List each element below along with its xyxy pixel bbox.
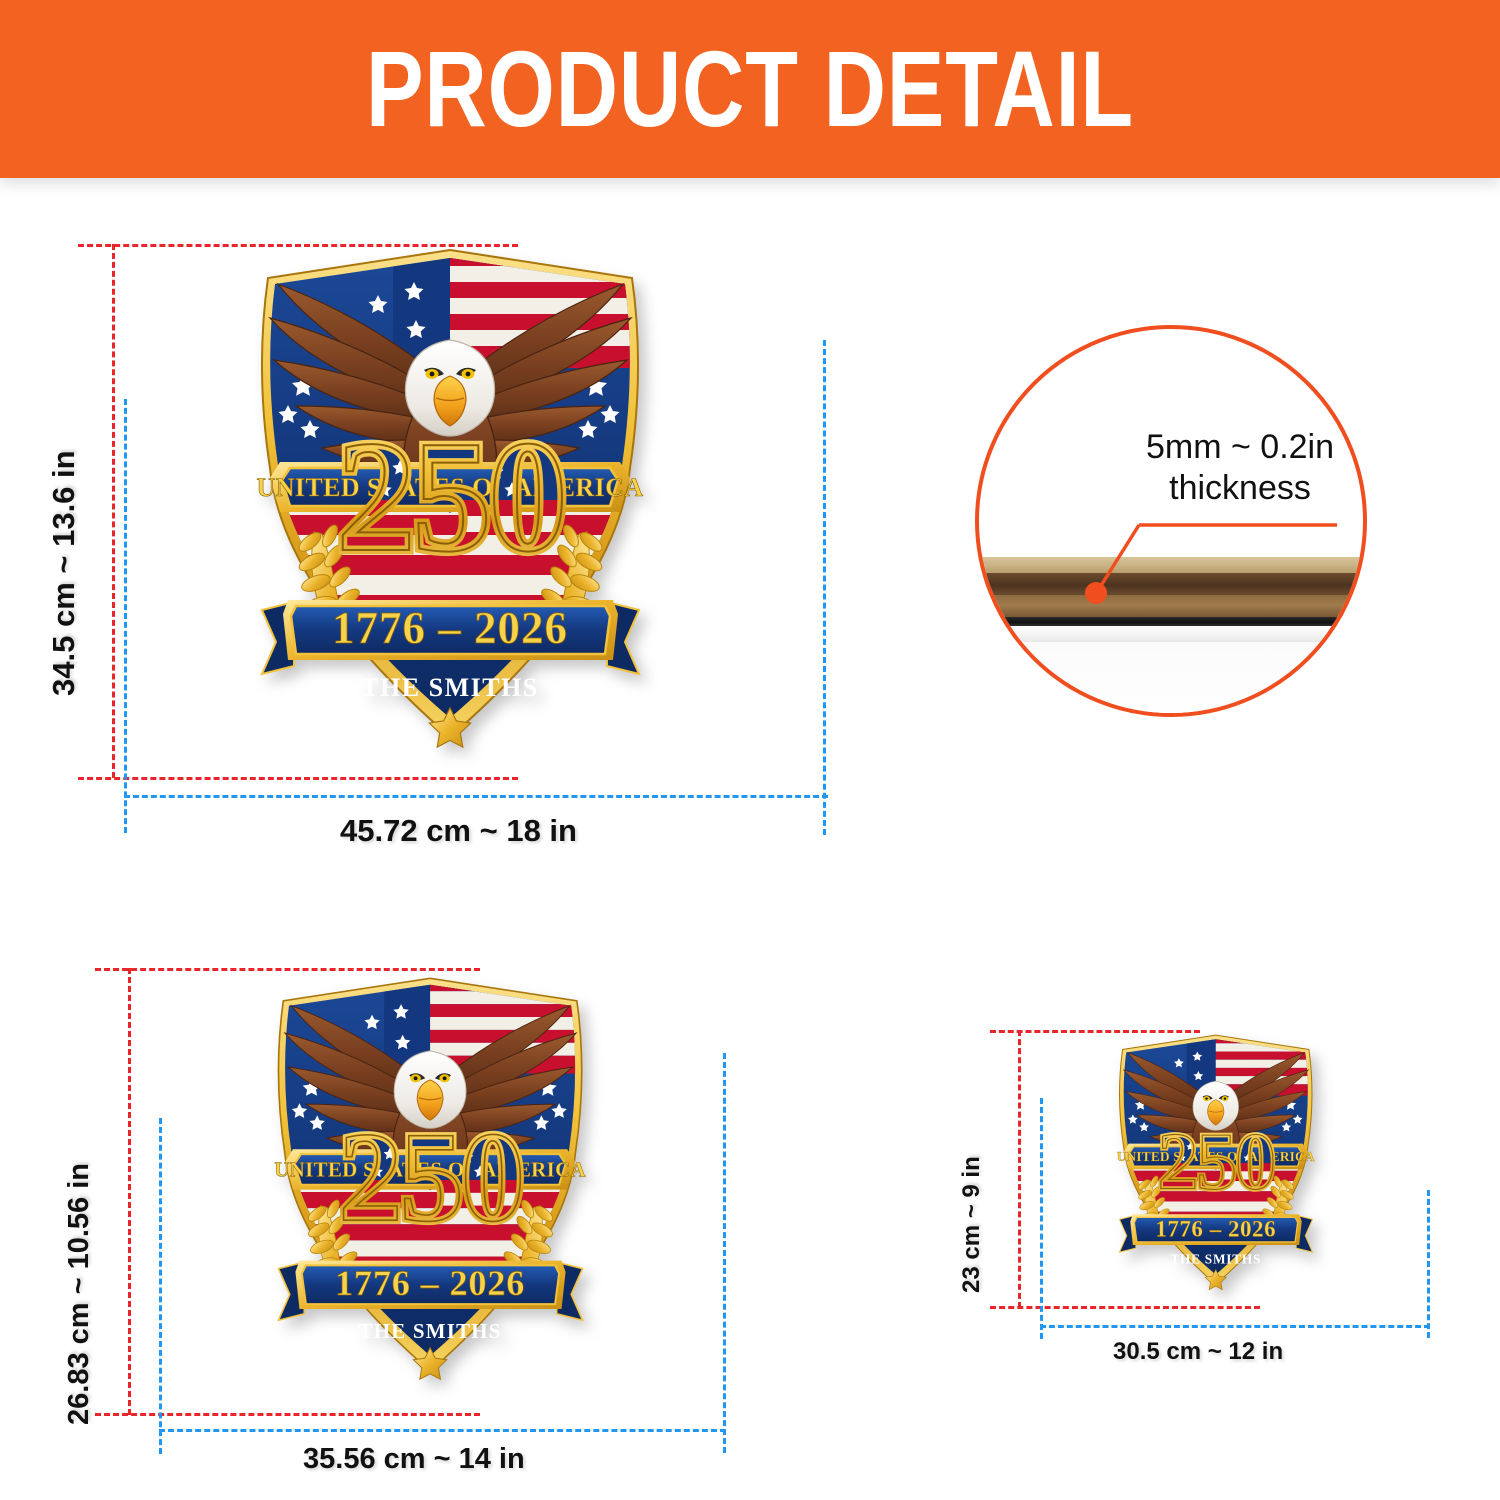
- small-red-bottom-line: [990, 1306, 1260, 1309]
- numeral-250: 250 250: [336, 407, 568, 616]
- medium-red-left-line: [128, 968, 131, 1415]
- family-name-text: THE SMITHS: [1170, 1251, 1261, 1266]
- large-blue-bottom-line: [124, 795, 828, 798]
- emblem-medium-svg: 250: [243, 978, 618, 1402]
- emblem-small: 250: [1097, 1035, 1335, 1304]
- medium-height-label: 26.83 cm ~ 10.56 in: [63, 1163, 96, 1425]
- small-blue-left-line: [1040, 1098, 1043, 1339]
- svg-text:250: 250: [338, 1105, 522, 1248]
- header-banner: PRODUCT DETAIL: [0, 0, 1500, 178]
- svg-text:250: 250: [1157, 1116, 1274, 1207]
- numeral-250-edge: 250: [336, 407, 564, 585]
- large-height-label: 34.5 cm ~ 13.6 in: [46, 450, 82, 696]
- numeral-250: 250 250: [1157, 1116, 1276, 1223]
- medium-blue-right-line: [723, 1053, 726, 1453]
- small-blue-bottom-line: [1040, 1325, 1430, 1328]
- large-red-left-line: [112, 244, 115, 778]
- small-red-left-line: [1018, 1030, 1021, 1308]
- small-width-label: 30.5 cm ~ 12 in: [1113, 1338, 1283, 1366]
- medium-blue-left-line: [159, 1118, 162, 1454]
- small-height-label: 23 cm ~ 9 in: [958, 1156, 986, 1293]
- medium-blue-bottom-line: [159, 1429, 726, 1432]
- emblem-large: 250: [218, 250, 683, 775]
- years-ribbon-text: 1776 – 2026: [335, 1263, 525, 1303]
- product-detail-page: PRODUCT DETAIL 34.5 cm ~ 13.6 in 45.72 c…: [0, 0, 1500, 1500]
- years-ribbon-text: 1776 – 2026: [1155, 1215, 1276, 1241]
- numeral-250: 250 250: [338, 1105, 525, 1273]
- emblem-medium: 250: [243, 978, 618, 1402]
- thickness-leader-line: [979, 329, 1367, 717]
- emblem-small-svg: 250: [1097, 1035, 1335, 1304]
- small-red-top-line: [990, 1030, 1200, 1033]
- family-name-text: THE SMITHS: [359, 1319, 502, 1343]
- small-blue-right-line: [1427, 1190, 1430, 1338]
- page-title: PRODUCT DETAIL: [366, 35, 1134, 143]
- emblem-large-svg: 250: [218, 250, 683, 775]
- medium-red-bottom-line: [95, 1413, 480, 1416]
- medium-red-top-line: [95, 968, 480, 971]
- large-width-label: 45.72 cm ~ 18 in: [340, 813, 577, 849]
- large-red-bottom-line: [78, 777, 518, 780]
- family-name-text: THE SMITHS: [361, 673, 539, 702]
- large-blue-left-line: [124, 399, 127, 833]
- large-red-top-line: [78, 244, 518, 247]
- years-ribbon-text: 1776 – 2026: [332, 603, 568, 653]
- thickness-leader-dot: [1085, 582, 1107, 604]
- thickness-detail-circle: 5mm ~ 0.2in thickness: [975, 325, 1367, 717]
- medium-width-label: 35.56 cm ~ 14 in: [303, 1443, 525, 1476]
- large-blue-right-line: [823, 340, 826, 835]
